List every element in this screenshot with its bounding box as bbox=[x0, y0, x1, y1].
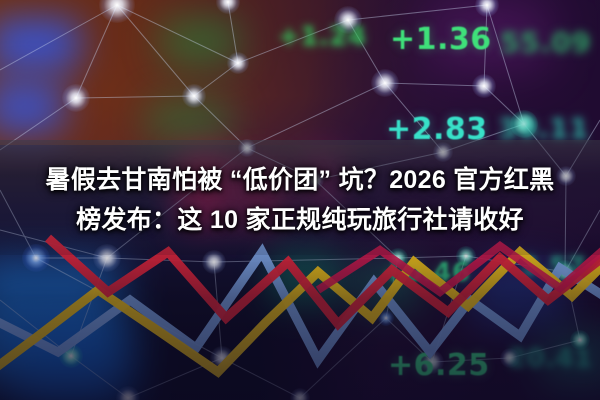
headline-line-1: 暑假去甘南怕被 “低价团” 坑？2026 官方红黑 bbox=[20, 160, 580, 200]
background-bottom-shade bbox=[0, 230, 600, 400]
headline-text: 暑假去甘南怕被 “低价团” 坑？2026 官方红黑 榜发布：这 10 家正规纯玩… bbox=[0, 160, 600, 240]
promo-image-canvas: +1.24+1.3655.09+2.8339.11+0.463.57+6.252… bbox=[0, 0, 600, 400]
headline-line-2: 榜发布：这 10 家正规纯玩旅行社请收好 bbox=[20, 200, 580, 240]
